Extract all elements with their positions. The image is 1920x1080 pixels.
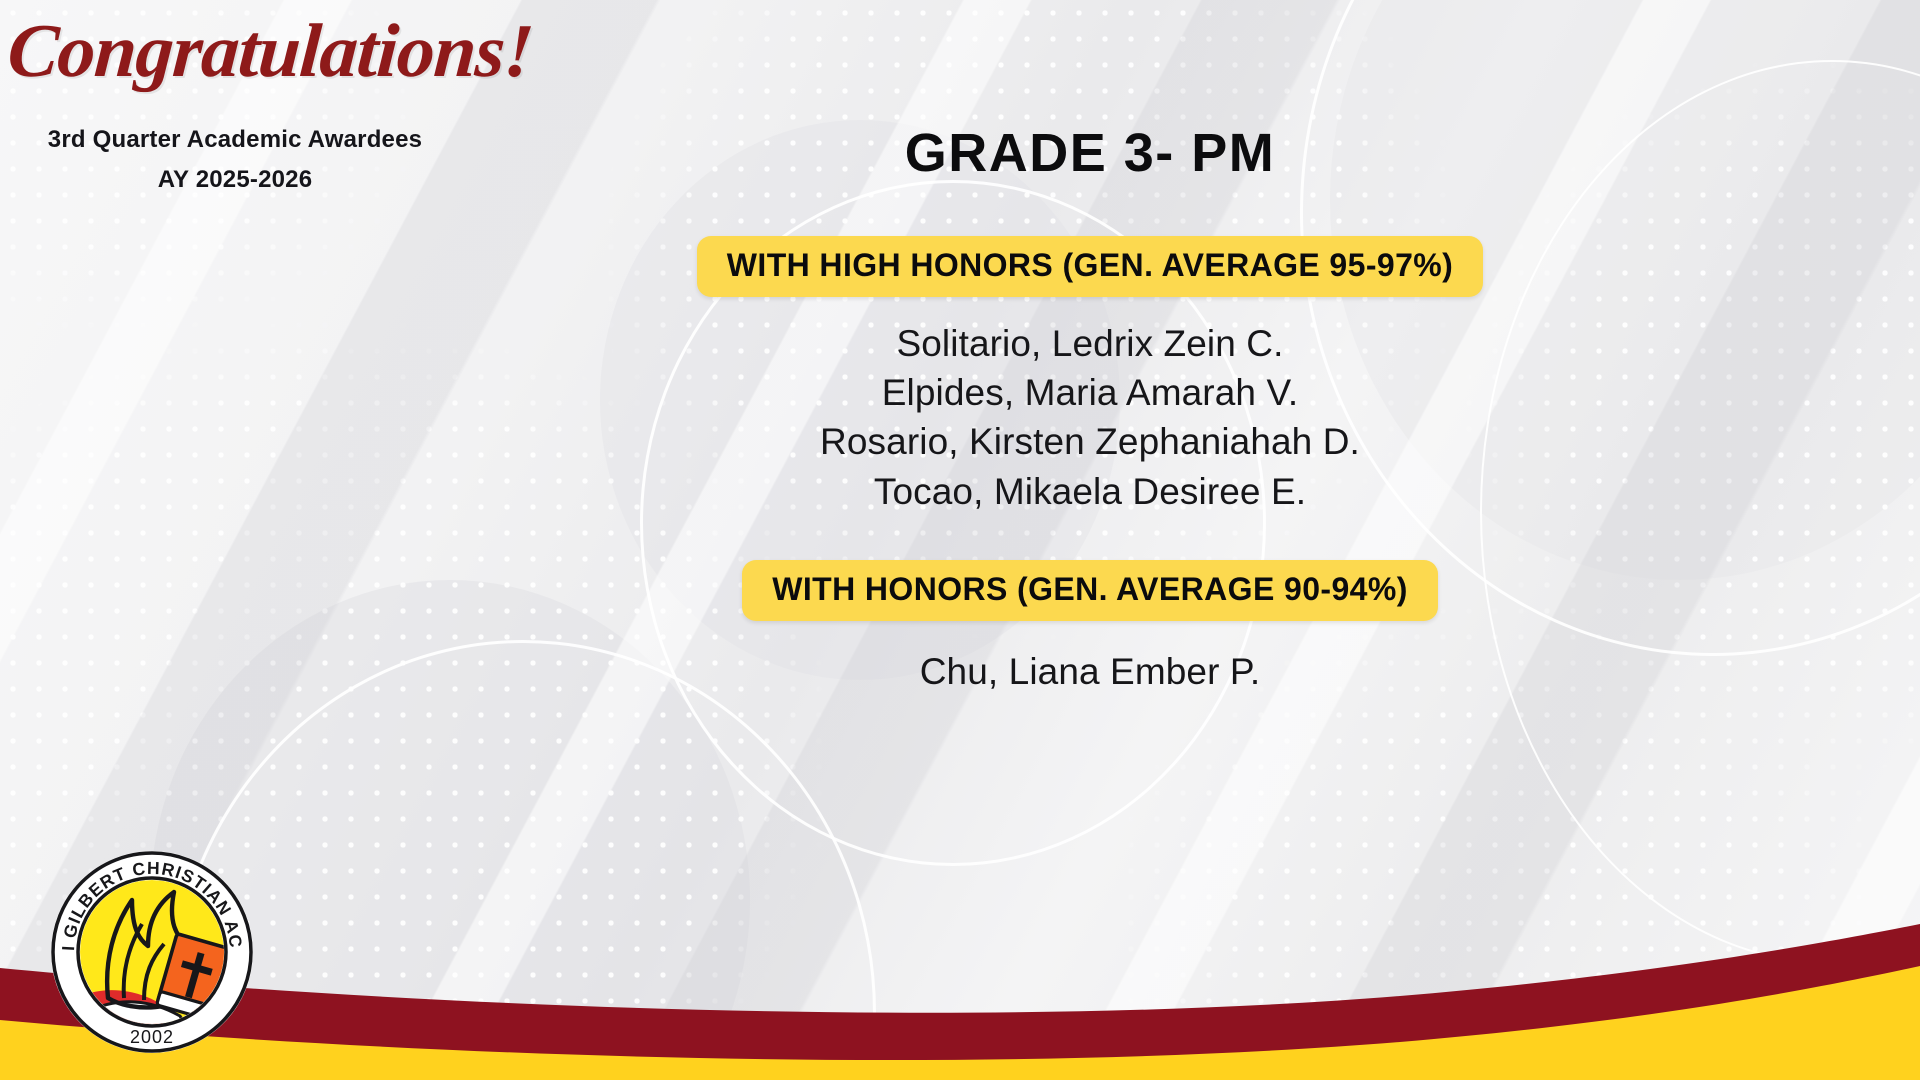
logo-year: 2002 xyxy=(130,1027,174,1047)
list-item: Rosario, Kirsten Zephaniahah D. xyxy=(510,417,1670,466)
page-title: GRADE 3- PM xyxy=(510,126,1670,180)
awardees-panel: GRADE 3- PM WITH HIGH HONORS (GEN. AVERA… xyxy=(510,0,1670,696)
list-item: Solitario, Ledrix Zein C. xyxy=(510,319,1670,368)
school-logo: ANGELI GILBERT CHRISTIAN ACADEMY 2002 xyxy=(48,848,256,1056)
subtitle-academic-year: AY 2025-2026 xyxy=(0,166,470,194)
high-honors-name-list: Solitario, Ledrix Zein C. Elpides, Maria… xyxy=(510,319,1670,516)
congratulations-heading: Congratulations! xyxy=(5,8,536,95)
certificate-slide: Congratulations! 3rd Quarter Academic Aw… xyxy=(0,0,1920,1080)
list-item: Tocao, Mikaela Desiree E. xyxy=(510,467,1670,516)
bottom-wave-decoration xyxy=(0,880,1920,1080)
status-badge-honors: WITH HONORS (GEN. AVERAGE 90-94%) xyxy=(742,560,1438,621)
list-item: Elpides, Maria Amarah V. xyxy=(510,368,1670,417)
subtitle-quarter: 3rd Quarter Academic Awardees xyxy=(0,126,470,154)
honors-section: WITH HONORS (GEN. AVERAGE 90-94%) Chu, L… xyxy=(510,560,1670,696)
high-honors-section: WITH HIGH HONORS (GEN. AVERAGE 95-97%) S… xyxy=(510,236,1670,516)
list-item: Chu, Liana Ember P. xyxy=(510,647,1670,696)
status-badge-high-honors: WITH HIGH HONORS (GEN. AVERAGE 95-97%) xyxy=(697,236,1483,297)
honors-name-list: Chu, Liana Ember P. xyxy=(510,647,1670,696)
